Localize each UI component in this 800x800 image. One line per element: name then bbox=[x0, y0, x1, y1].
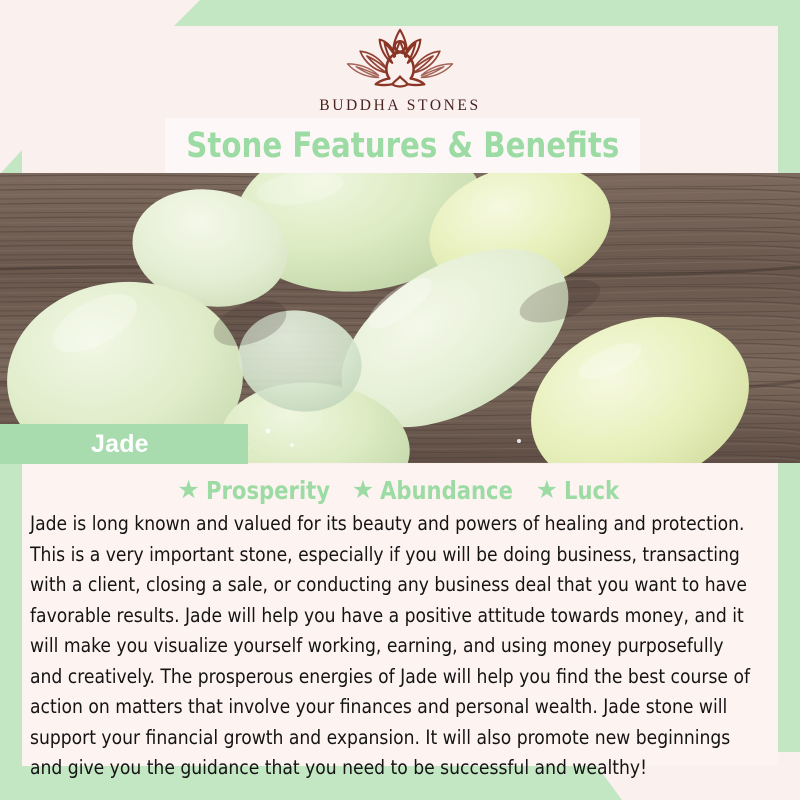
decorative-left-notch bbox=[0, 150, 22, 174]
stone-photo-image bbox=[0, 173, 800, 463]
star-icon: ★ bbox=[177, 478, 199, 503]
stone-name-band: Jade bbox=[0, 424, 248, 464]
lotus-meditation-icon bbox=[334, 24, 466, 94]
star-icon: ★ bbox=[536, 478, 558, 503]
page-title: Stone Features & Benefits bbox=[186, 126, 619, 166]
decorative-top-band bbox=[0, 0, 800, 26]
benefit-label: Luck bbox=[564, 476, 619, 505]
content-panel: ★ Prosperity ★ Abundance ★ Luck Jade is … bbox=[22, 464, 778, 766]
benefit-item-prosperity: ★ Prosperity bbox=[177, 476, 337, 505]
stone-description: Jade is long known and valued for its be… bbox=[30, 509, 759, 784]
infographic-poster: BUDDHA STONES Stone Features & Benefits bbox=[0, 0, 800, 800]
star-icon: ★ bbox=[352, 478, 374, 503]
benefit-item-luck: ★ Luck bbox=[536, 476, 623, 505]
stone-name: Jade bbox=[91, 430, 149, 459]
brand-logo: BUDDHA STONES bbox=[0, 24, 800, 115]
stone-photo bbox=[0, 173, 800, 463]
title-banner: Stone Features & Benefits bbox=[165, 118, 640, 173]
brand-name: BUDDHA STONES bbox=[0, 97, 800, 115]
benefit-item-abundance: ★ Abundance bbox=[352, 476, 522, 505]
benefit-label: Abundance bbox=[380, 476, 513, 505]
benefits-row: ★ Prosperity ★ Abundance ★ Luck bbox=[22, 464, 778, 507]
benefit-label: Prosperity bbox=[206, 476, 330, 505]
